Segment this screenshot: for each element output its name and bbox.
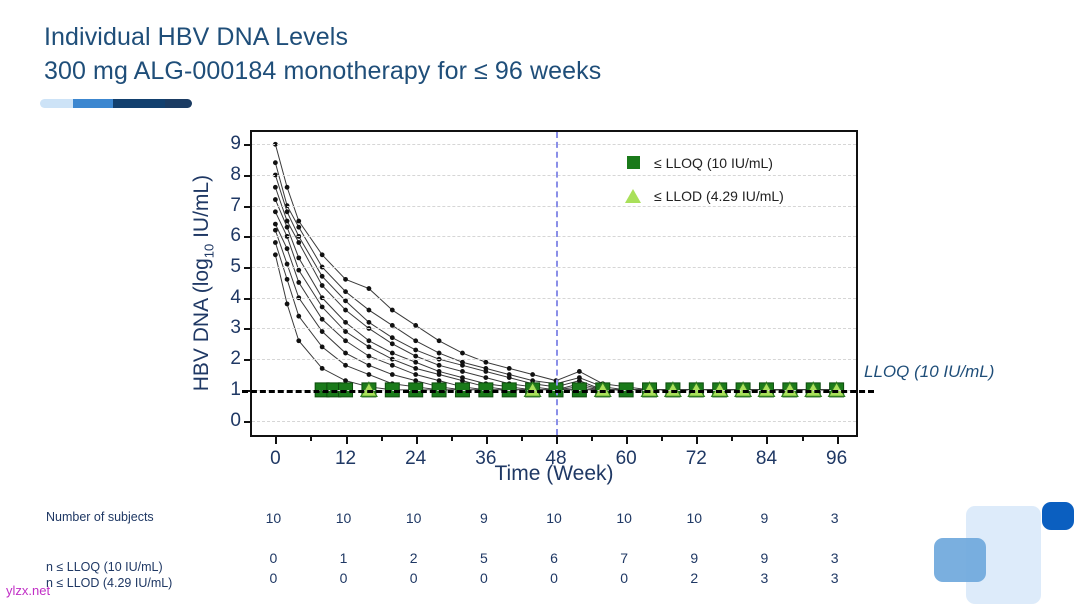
subject-data-point	[413, 378, 418, 383]
x-axis-tick	[486, 435, 488, 444]
subject-data-point	[343, 277, 348, 282]
y-axis-tick-label: 1	[230, 379, 241, 401]
y-axis-tick	[244, 236, 252, 238]
subject-data-point	[437, 378, 442, 383]
table-cell: 1	[340, 550, 348, 566]
subject-data-point	[577, 369, 582, 374]
x-axis-minor-tick	[310, 435, 312, 441]
subject-data-point	[390, 308, 395, 313]
legend-label-llod: ≤ LLOD (4.29 IU/mL)	[654, 188, 784, 204]
subject-data-point	[343, 363, 348, 368]
subject-data-point	[413, 338, 418, 343]
x-axis-tick	[416, 435, 418, 444]
x-axis-tick	[766, 435, 768, 444]
subject-data-point	[413, 348, 418, 353]
subject-data-point	[390, 323, 395, 328]
x-axis-tick	[696, 435, 698, 444]
x-axis-minor-tick	[802, 435, 804, 441]
subject-data-point	[437, 372, 442, 377]
subject-data-point	[367, 308, 372, 313]
x-axis-tick	[556, 435, 558, 444]
subject-data-point	[483, 360, 488, 365]
subject-data-point	[530, 372, 535, 377]
x-axis-minor-tick	[661, 435, 663, 441]
subject-data-point	[285, 209, 290, 214]
subject-data-point	[285, 302, 290, 307]
table-cell: 2	[690, 570, 698, 586]
subject-data-point	[320, 252, 325, 257]
table-cell: 10	[336, 510, 352, 526]
table-cell: 3	[831, 510, 839, 526]
watermark: ylzx.net	[6, 583, 50, 598]
subject-data-point	[437, 338, 442, 343]
y-axis-tick-label: 7	[230, 195, 241, 217]
y-gridline	[252, 267, 856, 268]
table-row-label: n ≤ LLOD (4.29 IU/mL)	[46, 576, 172, 590]
subject-data-point	[413, 372, 418, 377]
subject-data-point	[320, 329, 325, 334]
subject-data-point	[390, 351, 395, 356]
decorative-square-mid	[934, 538, 986, 582]
table-cell: 3	[831, 570, 839, 586]
subject-data-point	[320, 366, 325, 371]
subject-data-point	[367, 286, 372, 291]
table-cell: 0	[340, 570, 348, 586]
x-axis-minor-tick	[591, 435, 593, 441]
subject-data-point	[367, 363, 372, 368]
subject-data-point	[296, 219, 301, 224]
y-axis-tick	[244, 267, 252, 269]
subject-data-point	[390, 341, 395, 346]
subject-data-point	[296, 314, 301, 319]
table-cell: 2	[410, 550, 418, 566]
x-axis-minor-tick	[731, 435, 733, 441]
table-cell: 0	[550, 570, 558, 586]
table-cell: 0	[620, 570, 628, 586]
subject-data-point	[460, 351, 465, 356]
y-gridline	[252, 328, 856, 329]
y-axis-tick-label: 4	[230, 287, 241, 309]
table-cell: 3	[831, 550, 839, 566]
subject-data-point	[273, 185, 278, 190]
table-cell: 7	[620, 550, 628, 566]
table-cell: 9	[761, 510, 769, 526]
subject-data-point	[507, 366, 512, 371]
table-cell: 0	[410, 570, 418, 586]
subject-data-point	[296, 255, 301, 260]
x-axis-minor-tick	[451, 435, 453, 441]
subject-data-point	[483, 375, 488, 380]
subject-data-point	[273, 222, 278, 227]
subject-data-point	[390, 372, 395, 377]
square-marker-icon	[612, 156, 654, 169]
y-axis-tick-label: 5	[230, 256, 241, 278]
lloq-line-annotation: LLOQ (10 IU/mL)	[864, 362, 994, 382]
lloq-reference-line	[242, 390, 874, 393]
subject-data-point	[390, 335, 395, 340]
subject-data-point	[320, 283, 325, 288]
chart-legend: ≤ LLOQ (10 IU/mL) ≤ LLOD (4.29 IU/mL)	[612, 146, 832, 212]
subject-data-point	[273, 252, 278, 257]
subject-data-point	[285, 185, 290, 190]
subject-data-point	[285, 246, 290, 251]
subject-data-point	[460, 378, 465, 383]
subject-data-point	[343, 298, 348, 303]
subject-data-point	[367, 345, 372, 350]
subject-data-point	[296, 268, 301, 273]
subject-data-point	[367, 372, 372, 377]
legend-item-llod: ≤ LLOD (4.29 IU/mL)	[612, 179, 832, 212]
table-cell: 10	[266, 510, 282, 526]
table-row-label: Number of subjects	[46, 510, 154, 524]
y-axis-tick-label: 0	[230, 410, 241, 432]
subject-data-point	[367, 320, 372, 325]
subject-data-point	[483, 369, 488, 374]
subject-data-point	[273, 160, 278, 165]
subject-data-point	[343, 320, 348, 325]
subject-data-point	[343, 329, 348, 334]
y-axis-tick-label: 3	[230, 317, 241, 339]
y-axis-title: HBV DNA (log10 IU/mL)	[186, 130, 220, 437]
subject-data-point	[343, 338, 348, 343]
table-cell: 10	[687, 510, 703, 526]
subject-data-point	[460, 363, 465, 368]
y-gridline	[252, 236, 856, 237]
legend-label-lloq: ≤ LLOQ (10 IU/mL)	[654, 155, 773, 171]
table-cell: 10	[616, 510, 632, 526]
y-axis-tick	[244, 175, 252, 177]
table-cell: 10	[546, 510, 562, 526]
y-gridline	[252, 359, 856, 360]
subject-data-point	[413, 366, 418, 371]
table-row-label: n ≤ LLOQ (10 IU/mL)	[46, 560, 163, 574]
subject-data-point	[367, 354, 372, 359]
y-axis-tick-label: 8	[230, 164, 241, 186]
subject-data-point	[320, 274, 325, 279]
legend-item-lloq: ≤ LLOQ (10 IU/mL)	[612, 146, 832, 179]
y-axis-tick	[244, 421, 252, 423]
subject-data-point	[285, 225, 290, 230]
subject-data-point	[413, 354, 418, 359]
decorative-square-dark	[1042, 502, 1074, 530]
subject-data-point	[296, 338, 301, 343]
table-cell: 9	[480, 510, 488, 526]
y-axis-tick	[244, 144, 252, 146]
x-axis-title: Time (Week)	[250, 462, 858, 486]
y-axis-tick	[244, 359, 252, 361]
subject-data-point	[296, 240, 301, 245]
subject-data-point	[343, 289, 348, 294]
table-cell: 9	[690, 550, 698, 566]
table-cell: 6	[550, 550, 558, 566]
subject-data-point	[285, 277, 290, 282]
x-axis-tick	[837, 435, 839, 444]
subject-data-point	[296, 225, 301, 230]
subject-data-point	[390, 363, 395, 368]
y-axis-tick	[244, 328, 252, 330]
y-gridline	[252, 421, 856, 422]
y-axis-tick	[244, 298, 252, 300]
x-axis-minor-tick	[521, 435, 523, 441]
subject-data-point	[507, 375, 512, 380]
y-axis-tick-label: 2	[230, 348, 241, 370]
table-cell: 3	[761, 570, 769, 586]
subject-data-point	[343, 351, 348, 356]
table-cell: 0	[480, 570, 488, 586]
table-cell: 10	[406, 510, 422, 526]
subject-data-point	[343, 308, 348, 313]
y-axis-title-text: HBV DNA (log10 IU/mL)	[190, 175, 216, 391]
subject-data-point	[460, 369, 465, 374]
subject-data-point	[273, 197, 278, 202]
table-cell: 5	[480, 550, 488, 566]
x-axis-tick	[346, 435, 348, 444]
subject-data-point	[285, 262, 290, 267]
chart-area: HBV DNA (log10 IU/mL) 012345678901224364…	[0, 0, 1080, 500]
subject-data-point	[343, 378, 348, 383]
subject-data-point	[413, 360, 418, 365]
subject-data-point	[437, 351, 442, 356]
x-axis-minor-tick	[381, 435, 383, 441]
subject-data-point	[296, 280, 301, 285]
triangle-marker-icon	[612, 189, 654, 203]
y-axis-tick	[244, 206, 252, 208]
subject-data-point	[437, 363, 442, 368]
y-axis-tick-label: 9	[230, 133, 241, 155]
subject-data-point	[273, 240, 278, 245]
subject-data-point	[413, 323, 418, 328]
table-cell: 9	[761, 550, 769, 566]
subject-data-point	[273, 228, 278, 233]
subject-data-point	[320, 305, 325, 310]
y-axis-tick-label: 6	[230, 225, 241, 247]
table-cell: 0	[269, 570, 277, 586]
summary-table: Number of subjects101010910101093n ≤ LLO…	[0, 498, 1080, 598]
x-axis-tick	[275, 435, 277, 444]
subject-data-point	[320, 317, 325, 322]
x-axis-tick	[626, 435, 628, 444]
table-cell: 0	[269, 550, 277, 566]
y-gridline	[252, 298, 856, 299]
subject-data-point	[367, 338, 372, 343]
subject-data-point	[320, 345, 325, 350]
subject-data-point	[273, 209, 278, 214]
